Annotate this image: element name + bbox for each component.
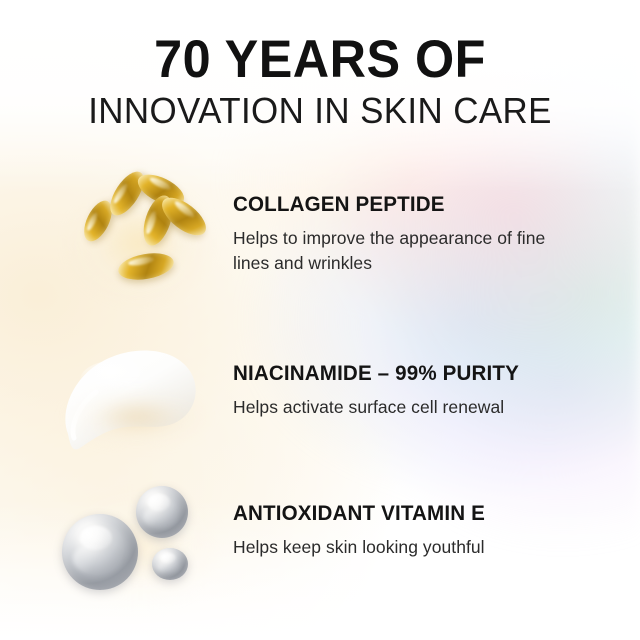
- cream-shadow: [62, 388, 212, 446]
- collagen-capsules-visual: [40, 168, 220, 318]
- ingredient-title: ANTIOXIDANT VITAMIN E: [233, 502, 556, 526]
- ingredient-row-niacinamide: NIACINAMIDE – 99% PURITY Helps activate …: [0, 330, 640, 480]
- ingredient-description: Helps activate surface cell renewal: [233, 395, 553, 420]
- ingredient-description: Helps to improve the appearance of fine …: [233, 226, 553, 276]
- ingredient-description: Helps keep skin looking youthful: [233, 535, 553, 560]
- cream-swoosh-visual: [40, 330, 220, 480]
- vitamin-e-droplet-icon: [152, 548, 188, 580]
- ingredient-infographic: 70 YEARS OF INNOVATION IN SKIN CARE COLL…: [0, 0, 640, 640]
- ingredient-text-block: NIACINAMIDE – 99% PURITY Helps activate …: [233, 362, 563, 420]
- ingredient-row-collagen-peptide: COLLAGEN PEPTIDE Helps to improve the ap…: [0, 168, 640, 318]
- vitamin-e-droplet-icon: [62, 514, 138, 590]
- headline-secondary: INNOVATION IN SKIN CARE: [10, 92, 631, 130]
- ingredient-text-block: ANTIOXIDANT VITAMIN E Helps keep skin lo…: [233, 502, 563, 560]
- ingredient-row-vitamin-e: ANTIOXIDANT VITAMIN E Helps keep skin lo…: [0, 470, 640, 620]
- vitamin-e-spheres-visual: [40, 470, 220, 620]
- capsule-glow: [62, 178, 217, 308]
- headline-block: 70 YEARS OF INNOVATION IN SKIN CARE: [0, 33, 640, 130]
- headline-primary: 70 YEARS OF: [16, 33, 624, 87]
- ingredient-title: COLLAGEN PEPTIDE: [233, 193, 556, 217]
- ingredient-text-block: COLLAGEN PEPTIDE Helps to improve the ap…: [233, 193, 563, 276]
- ingredient-title: NIACINAMIDE – 99% PURITY: [233, 362, 556, 386]
- vitamin-e-droplet-icon: [136, 486, 188, 538]
